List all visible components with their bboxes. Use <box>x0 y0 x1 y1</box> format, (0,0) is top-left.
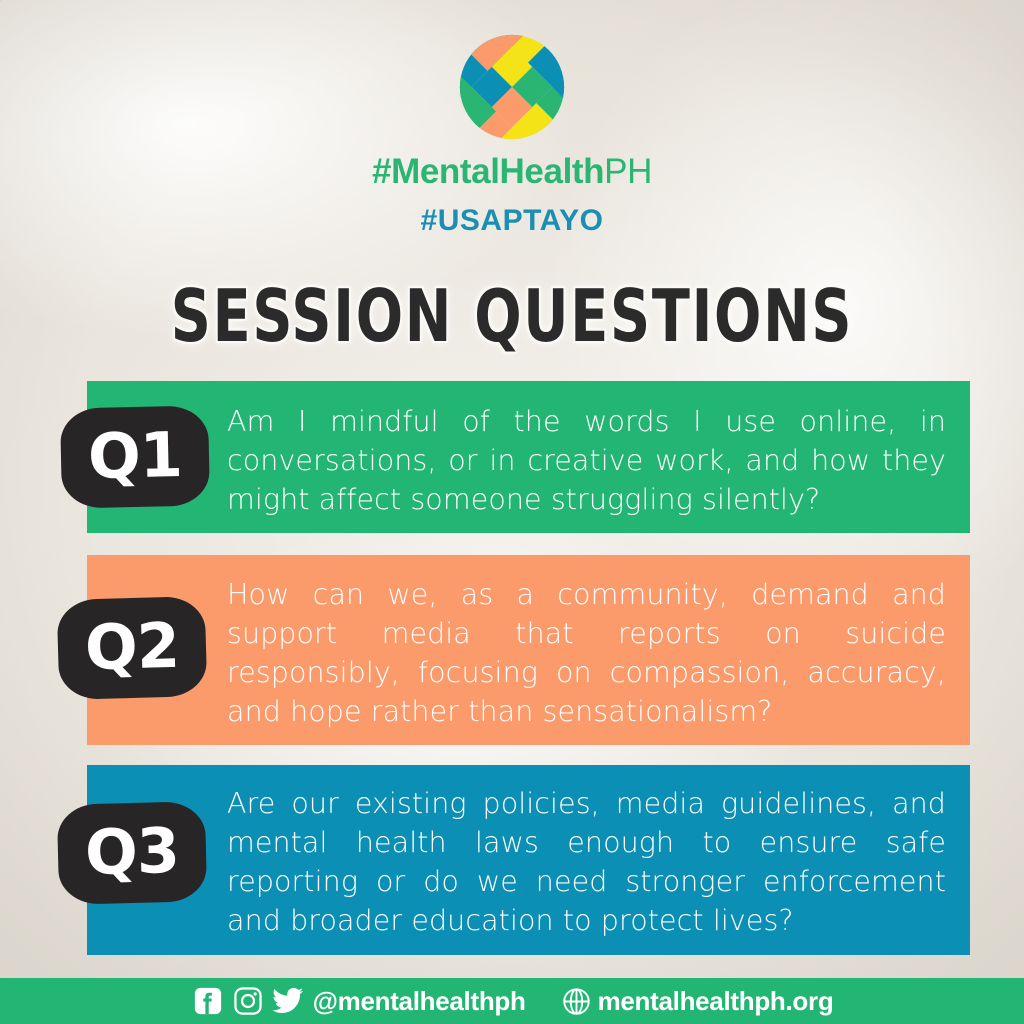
mentalhealthph-pinwheel-logo-icon <box>453 28 571 146</box>
question-bar-3: Are our existing policies, media guideli… <box>87 765 970 955</box>
facebook-icon[interactable] <box>191 984 225 1018</box>
question-bar-1: Am I mindful of the words I use online, … <box>87 381 970 533</box>
instagram-icon[interactable] <box>231 984 265 1018</box>
question-text-3: Are our existing policies, media guideli… <box>227 784 946 940</box>
globe-icon <box>562 986 592 1016</box>
question-badge-label-2: Q2 <box>84 615 180 680</box>
brand-hashtag-bold: #MentalHealth <box>372 152 604 191</box>
footer-bar: @mentalhealthph mentalhealthph.org <box>0 978 1024 1024</box>
question-badge-2: Q2 <box>57 596 208 700</box>
question-text-1: Am I mindful of the words I use online, … <box>227 402 946 519</box>
poster-canvas: #MentalHealthPH #USAPTAYO SESSION QUESTI… <box>0 0 1024 1024</box>
twitter-icon[interactable] <box>271 984 305 1018</box>
question-text-2: How can we, as a community, demand and s… <box>227 575 946 731</box>
logo-container <box>0 28 1024 151</box>
question-badge-1: Q1 <box>60 405 210 508</box>
question-bar-2: How can we, as a community, demand and s… <box>87 555 970 745</box>
brand-hashtag-light: PH <box>604 152 652 191</box>
question-badge-label-1: Q1 <box>87 424 182 488</box>
footer-content: @mentalhealthph mentalhealthph.org <box>191 984 834 1018</box>
social-handle[interactable]: @mentalhealthph <box>313 986 526 1017</box>
campaign-hashtag: #USAPTAYO <box>0 204 1024 238</box>
question-badge-3: Q3 <box>57 801 207 905</box>
page-title: SESSION QUESTIONS <box>72 274 953 358</box>
question-badge-label-3: Q3 <box>84 820 179 884</box>
brand-hashtag: #MentalHealthPH <box>0 152 1024 192</box>
website-url[interactable]: mentalhealthph.org <box>598 986 834 1017</box>
